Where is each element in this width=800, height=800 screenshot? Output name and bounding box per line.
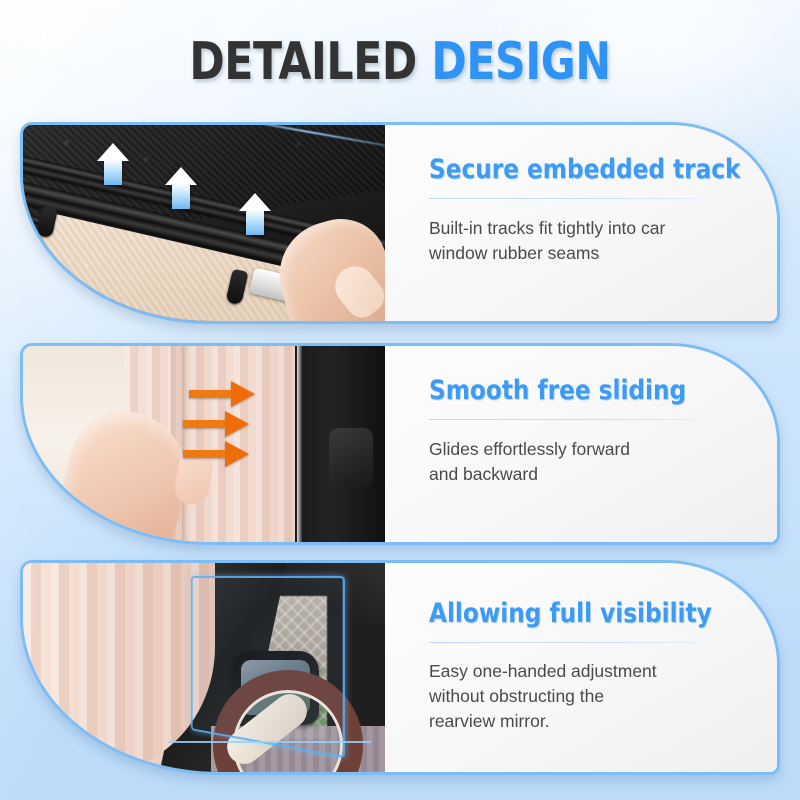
photo-visibility-outline (191, 575, 345, 758)
feature-divider (429, 419, 701, 420)
page-title-blue-part: DESIGN (431, 32, 610, 92)
feature-divider (429, 198, 701, 199)
feature-photo-allowing-full-visibility (23, 563, 385, 772)
feature-body: Glides effortlessly forward and backward (429, 437, 719, 487)
feature-card-1: Secure embedded track Built-in tracks fi… (20, 122, 780, 324)
feature-text-1: Secure embedded track Built-in tracks fi… (385, 125, 780, 321)
feature-card-3: Allowing full visibility Easy one-handed… (20, 560, 780, 775)
feature-text-2: Smooth free sliding Glides effortlessly … (385, 346, 777, 542)
page-title-dark-part: DETAILED (189, 32, 417, 92)
feature-card-2: Smooth free sliding Glides effortlessly … (20, 343, 780, 545)
photo-chrome-trim (297, 346, 302, 542)
infographic-page: DETAILED DESIGN Secure embedded track (0, 0, 800, 800)
feature-photo-smooth-free-sliding (23, 346, 385, 542)
photo-curtain-fold (182, 346, 189, 542)
photo-fingernail (327, 258, 385, 321)
feature-body: Easy one-handed adjustment without obstr… (429, 659, 719, 734)
feature-body: Built-in tracks fit tightly into car win… (429, 216, 719, 266)
feature-heading: Smooth free sliding (429, 376, 728, 406)
page-title: DETAILED DESIGN (72, 34, 728, 90)
photo-door-panel (295, 346, 386, 542)
photo-visibility-outline-base (168, 741, 371, 743)
feature-heading: Allowing full visibility (429, 599, 728, 629)
feature-text-3: Allowing full visibility Easy one-handed… (385, 563, 777, 772)
feature-photo-secure-embedded-track (23, 125, 385, 321)
photo-door-knob (329, 428, 373, 488)
feature-divider (429, 642, 701, 643)
feature-heading: Secure embedded track (429, 155, 740, 185)
